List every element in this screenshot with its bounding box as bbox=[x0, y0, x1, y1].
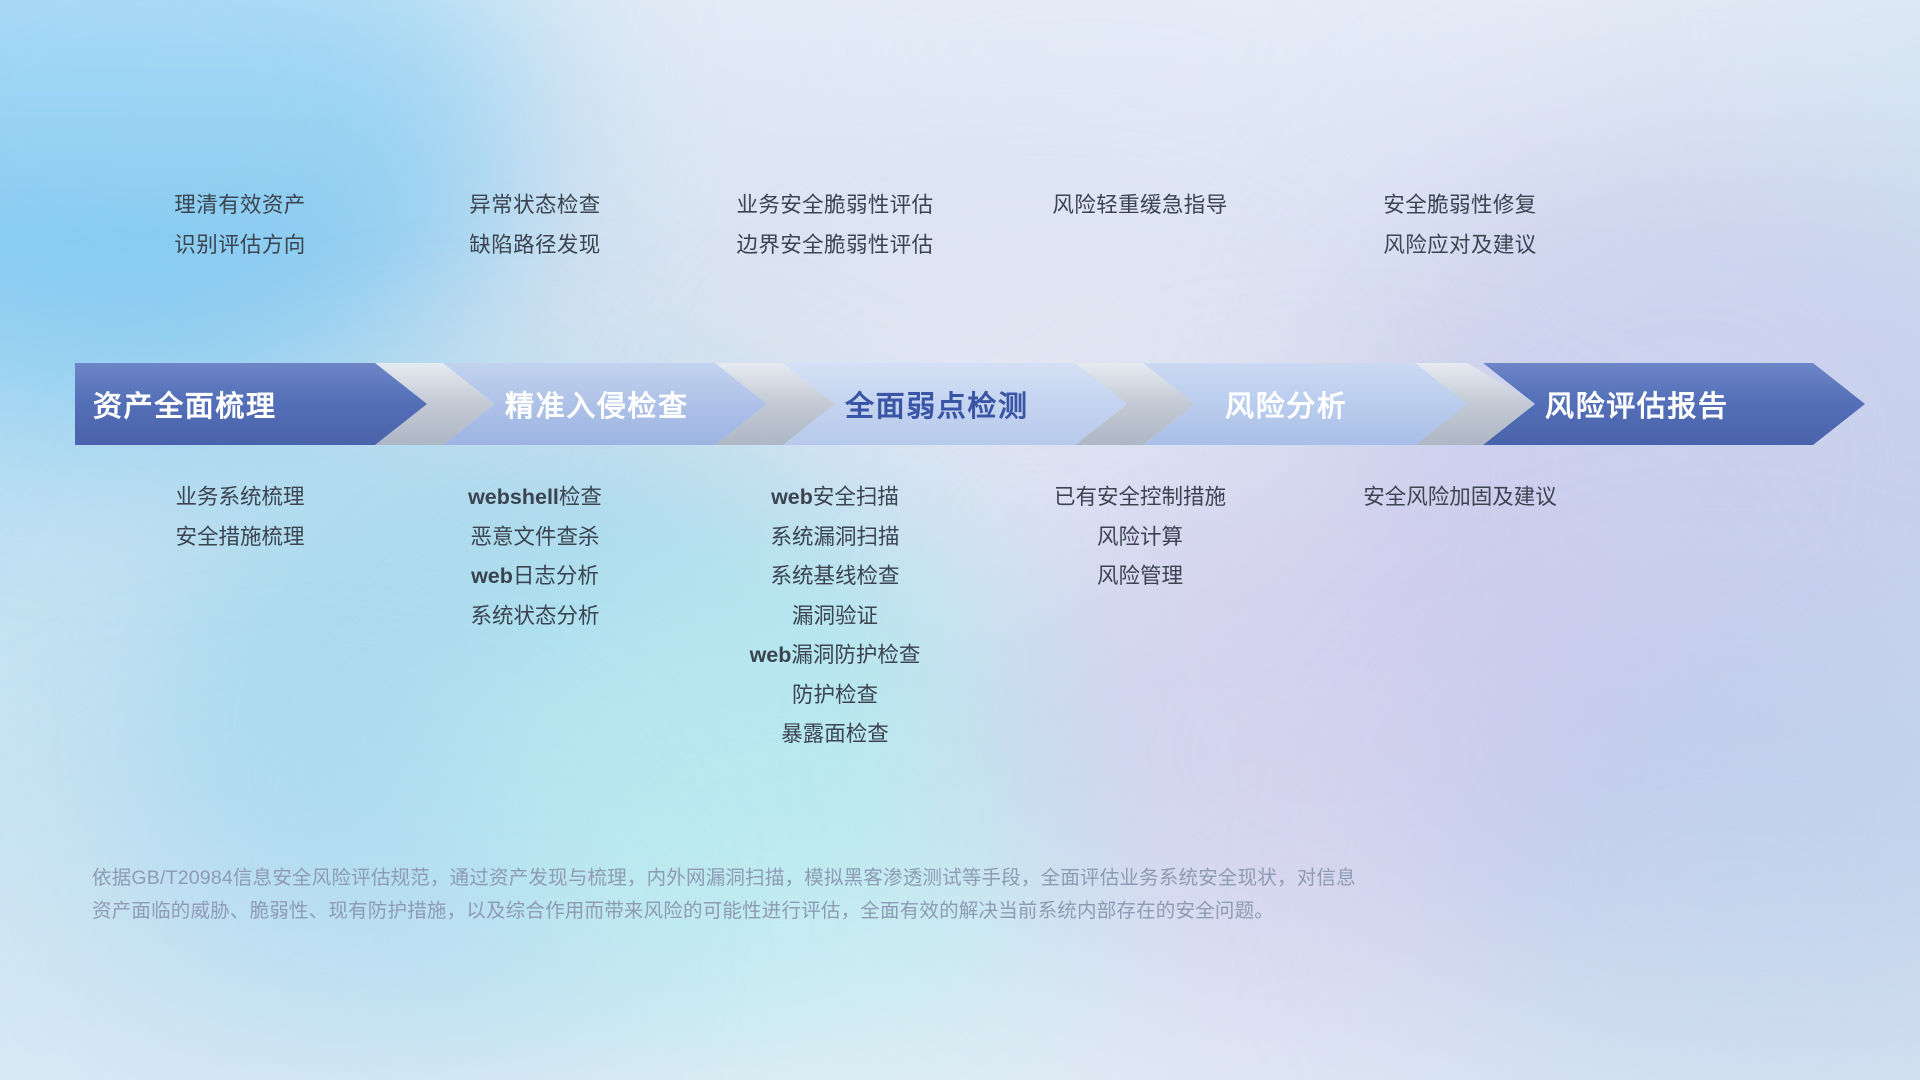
list-item-suffix: 安全扫描 bbox=[813, 485, 899, 509]
list-item: 系统状态分析 bbox=[390, 597, 680, 637]
list-item: 系统漏洞扫描 bbox=[680, 518, 990, 558]
list-item: 恶意文件查杀 bbox=[390, 518, 680, 558]
top-note: 边界安全脆弱性评估 bbox=[680, 225, 990, 265]
list-item-suffix: 漏洞防护检查 bbox=[791, 643, 920, 667]
list-item: 风险管理 bbox=[990, 557, 1290, 597]
list-item: web漏洞防护检查 bbox=[680, 636, 990, 676]
bottom-items-risk-report: 安全风险加固及建议 bbox=[1290, 478, 1630, 518]
top-note: 风险轻重缓急指导 bbox=[990, 185, 1290, 225]
list-item: 安全风险加固及建议 bbox=[1290, 478, 1630, 518]
chevron-risk-report[interactable]: 风险评估报告 bbox=[1483, 363, 1865, 445]
top-note: 缺陷路径发现 bbox=[390, 225, 680, 265]
list-item: web日志分析 bbox=[390, 557, 680, 597]
bottom-items-intrusion-check: webshell检查 恶意文件查杀 web日志分析 系统状态分析 bbox=[390, 478, 680, 636]
chevron-label: 风险评估报告 bbox=[1545, 389, 1729, 423]
list-item: 风险计算 bbox=[990, 518, 1290, 558]
list-item: webshell检查 bbox=[390, 478, 680, 518]
top-note: 理清有效资产 bbox=[90, 185, 390, 225]
list-item: 系统基线检查 bbox=[680, 557, 990, 597]
top-notes-row: 理清有效资产 识别评估方向 异常状态检查 缺陷路径发现 业务安全脆弱性评估 边界… bbox=[90, 185, 1865, 265]
list-item: 安全措施梳理 bbox=[90, 518, 390, 558]
footer-description: 依据GB/T20984信息安全风险评估规范，通过资产发现与梳理，内外网漏洞扫描，… bbox=[92, 862, 1512, 928]
chevron-label: 资产全面梳理 bbox=[93, 389, 277, 423]
bottom-items-asset-inventory: 业务系统梳理 安全措施梳理 bbox=[90, 478, 390, 557]
top-notes-risk-report: 安全脆弱性修复 风险应对及建议 bbox=[1290, 185, 1630, 265]
chevron-label: 风险分析 bbox=[1225, 389, 1347, 423]
top-note: 安全脆弱性修复 bbox=[1290, 185, 1630, 225]
top-notes-risk-analysis: 风险轻重缓急指导 bbox=[990, 185, 1290, 265]
chevron-label: 精准入侵检查 bbox=[505, 389, 689, 423]
top-note: 识别评估方向 bbox=[90, 225, 390, 265]
top-notes-weakness-detection: 业务安全脆弱性评估 边界安全脆弱性评估 bbox=[680, 185, 990, 265]
top-note: 异常状态检查 bbox=[390, 185, 680, 225]
top-note: 业务安全脆弱性评估 bbox=[680, 185, 990, 225]
bottom-items-risk-analysis: 已有安全控制措施 风险计算 风险管理 bbox=[990, 478, 1290, 597]
bottom-items-weakness-detection: web安全扫描 系统漏洞扫描 系统基线检查 漏洞验证 web漏洞防护检查 防护检… bbox=[680, 478, 990, 755]
slide-canvas: 理清有效资产 识别评估方向 异常状态检查 缺陷路径发现 业务安全脆弱性评估 边界… bbox=[0, 0, 1920, 1080]
top-notes-intrusion-check: 异常状态检查 缺陷路径发现 bbox=[390, 185, 680, 265]
list-item-suffix: 检查 bbox=[559, 485, 602, 509]
list-item: 漏洞验证 bbox=[680, 597, 990, 637]
chevron-asset-inventory[interactable]: 资产全面梳理 bbox=[75, 363, 427, 445]
list-item: web安全扫描 bbox=[680, 478, 990, 518]
list-item-suffix: 日志分析 bbox=[513, 564, 599, 588]
chevron-label: 全面弱点检测 bbox=[844, 389, 1029, 423]
list-item: 已有安全控制措施 bbox=[990, 478, 1290, 518]
process-chevron-banner: 资产全面梳理 精准入侵检查 全面弱点检测 风险分析 bbox=[75, 363, 1865, 445]
top-notes-asset-inventory: 理清有效资产 识别评估方向 bbox=[90, 185, 390, 265]
footer-line-2: 资产面临的威胁、脆弱性、现有防护措施，以及综合作用而带来风险的可能性进行评估，全… bbox=[92, 895, 1512, 928]
list-item: 业务系统梳理 bbox=[90, 478, 390, 518]
bottom-items-row: 业务系统梳理 安全措施梳理 webshell检查 恶意文件查杀 web日志分析 … bbox=[90, 478, 1865, 755]
top-note: 风险应对及建议 bbox=[1290, 225, 1630, 265]
list-item: 暴露面检查 bbox=[680, 715, 990, 755]
list-item: 防护检查 bbox=[680, 676, 990, 716]
footer-line-1: 依据GB/T20984信息安全风险评估规范，通过资产发现与梳理，内外网漏洞扫描，… bbox=[92, 862, 1512, 895]
